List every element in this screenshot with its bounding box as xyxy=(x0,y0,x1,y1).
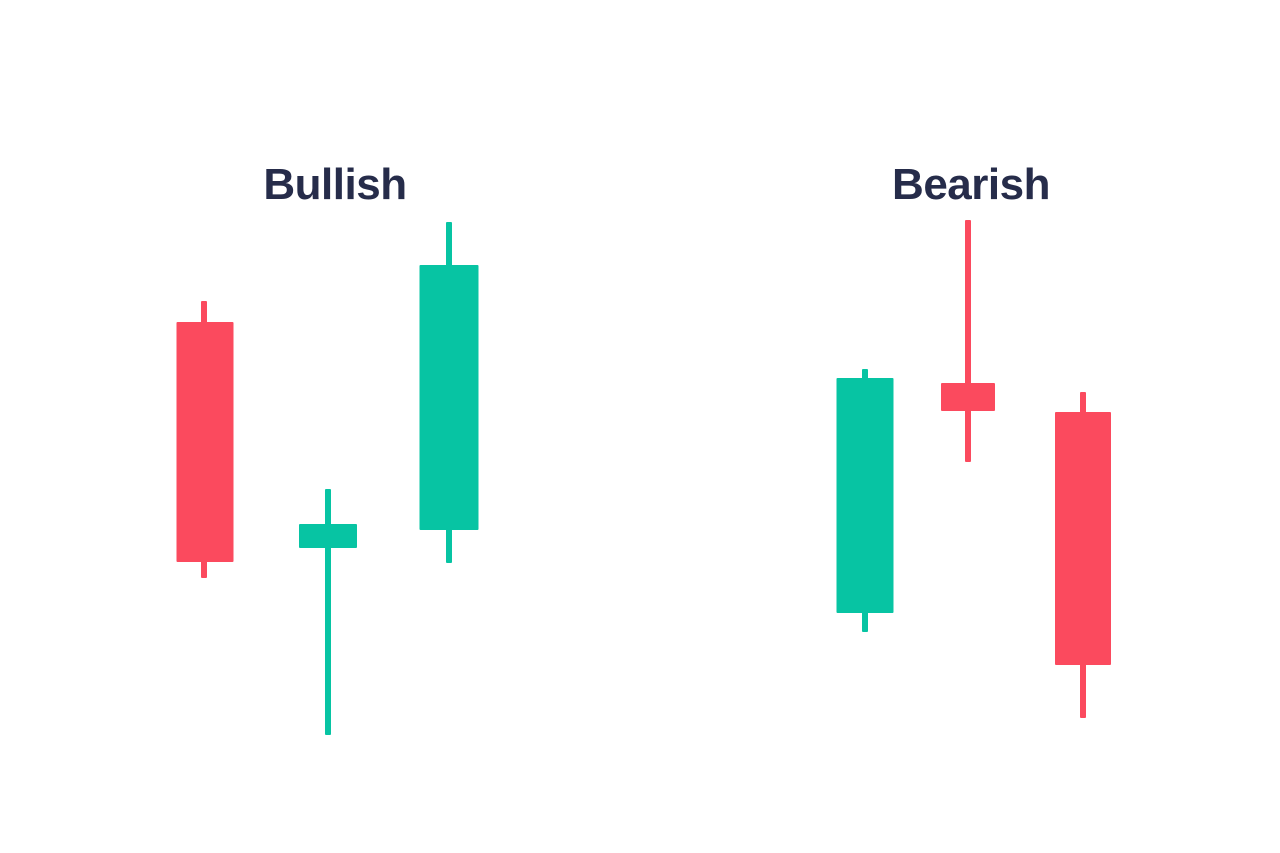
candlestick-illustration: Bullish Bearish xyxy=(0,0,1280,853)
candle-wick xyxy=(201,301,207,578)
candle-body xyxy=(419,265,478,530)
candle-wick xyxy=(862,369,868,632)
candle-body xyxy=(941,383,995,411)
candle-wick xyxy=(1080,392,1086,718)
candle-body xyxy=(1055,412,1111,665)
candle-body xyxy=(836,378,893,613)
group-title-bullish: Bullish xyxy=(263,163,406,207)
candle-wick xyxy=(325,489,331,735)
candle-body xyxy=(176,322,233,562)
candle-body xyxy=(299,524,357,548)
group-title-bearish: Bearish xyxy=(892,163,1050,207)
candle-layer xyxy=(0,0,1280,853)
candle-wick xyxy=(965,220,971,462)
candle-wick xyxy=(446,222,452,563)
